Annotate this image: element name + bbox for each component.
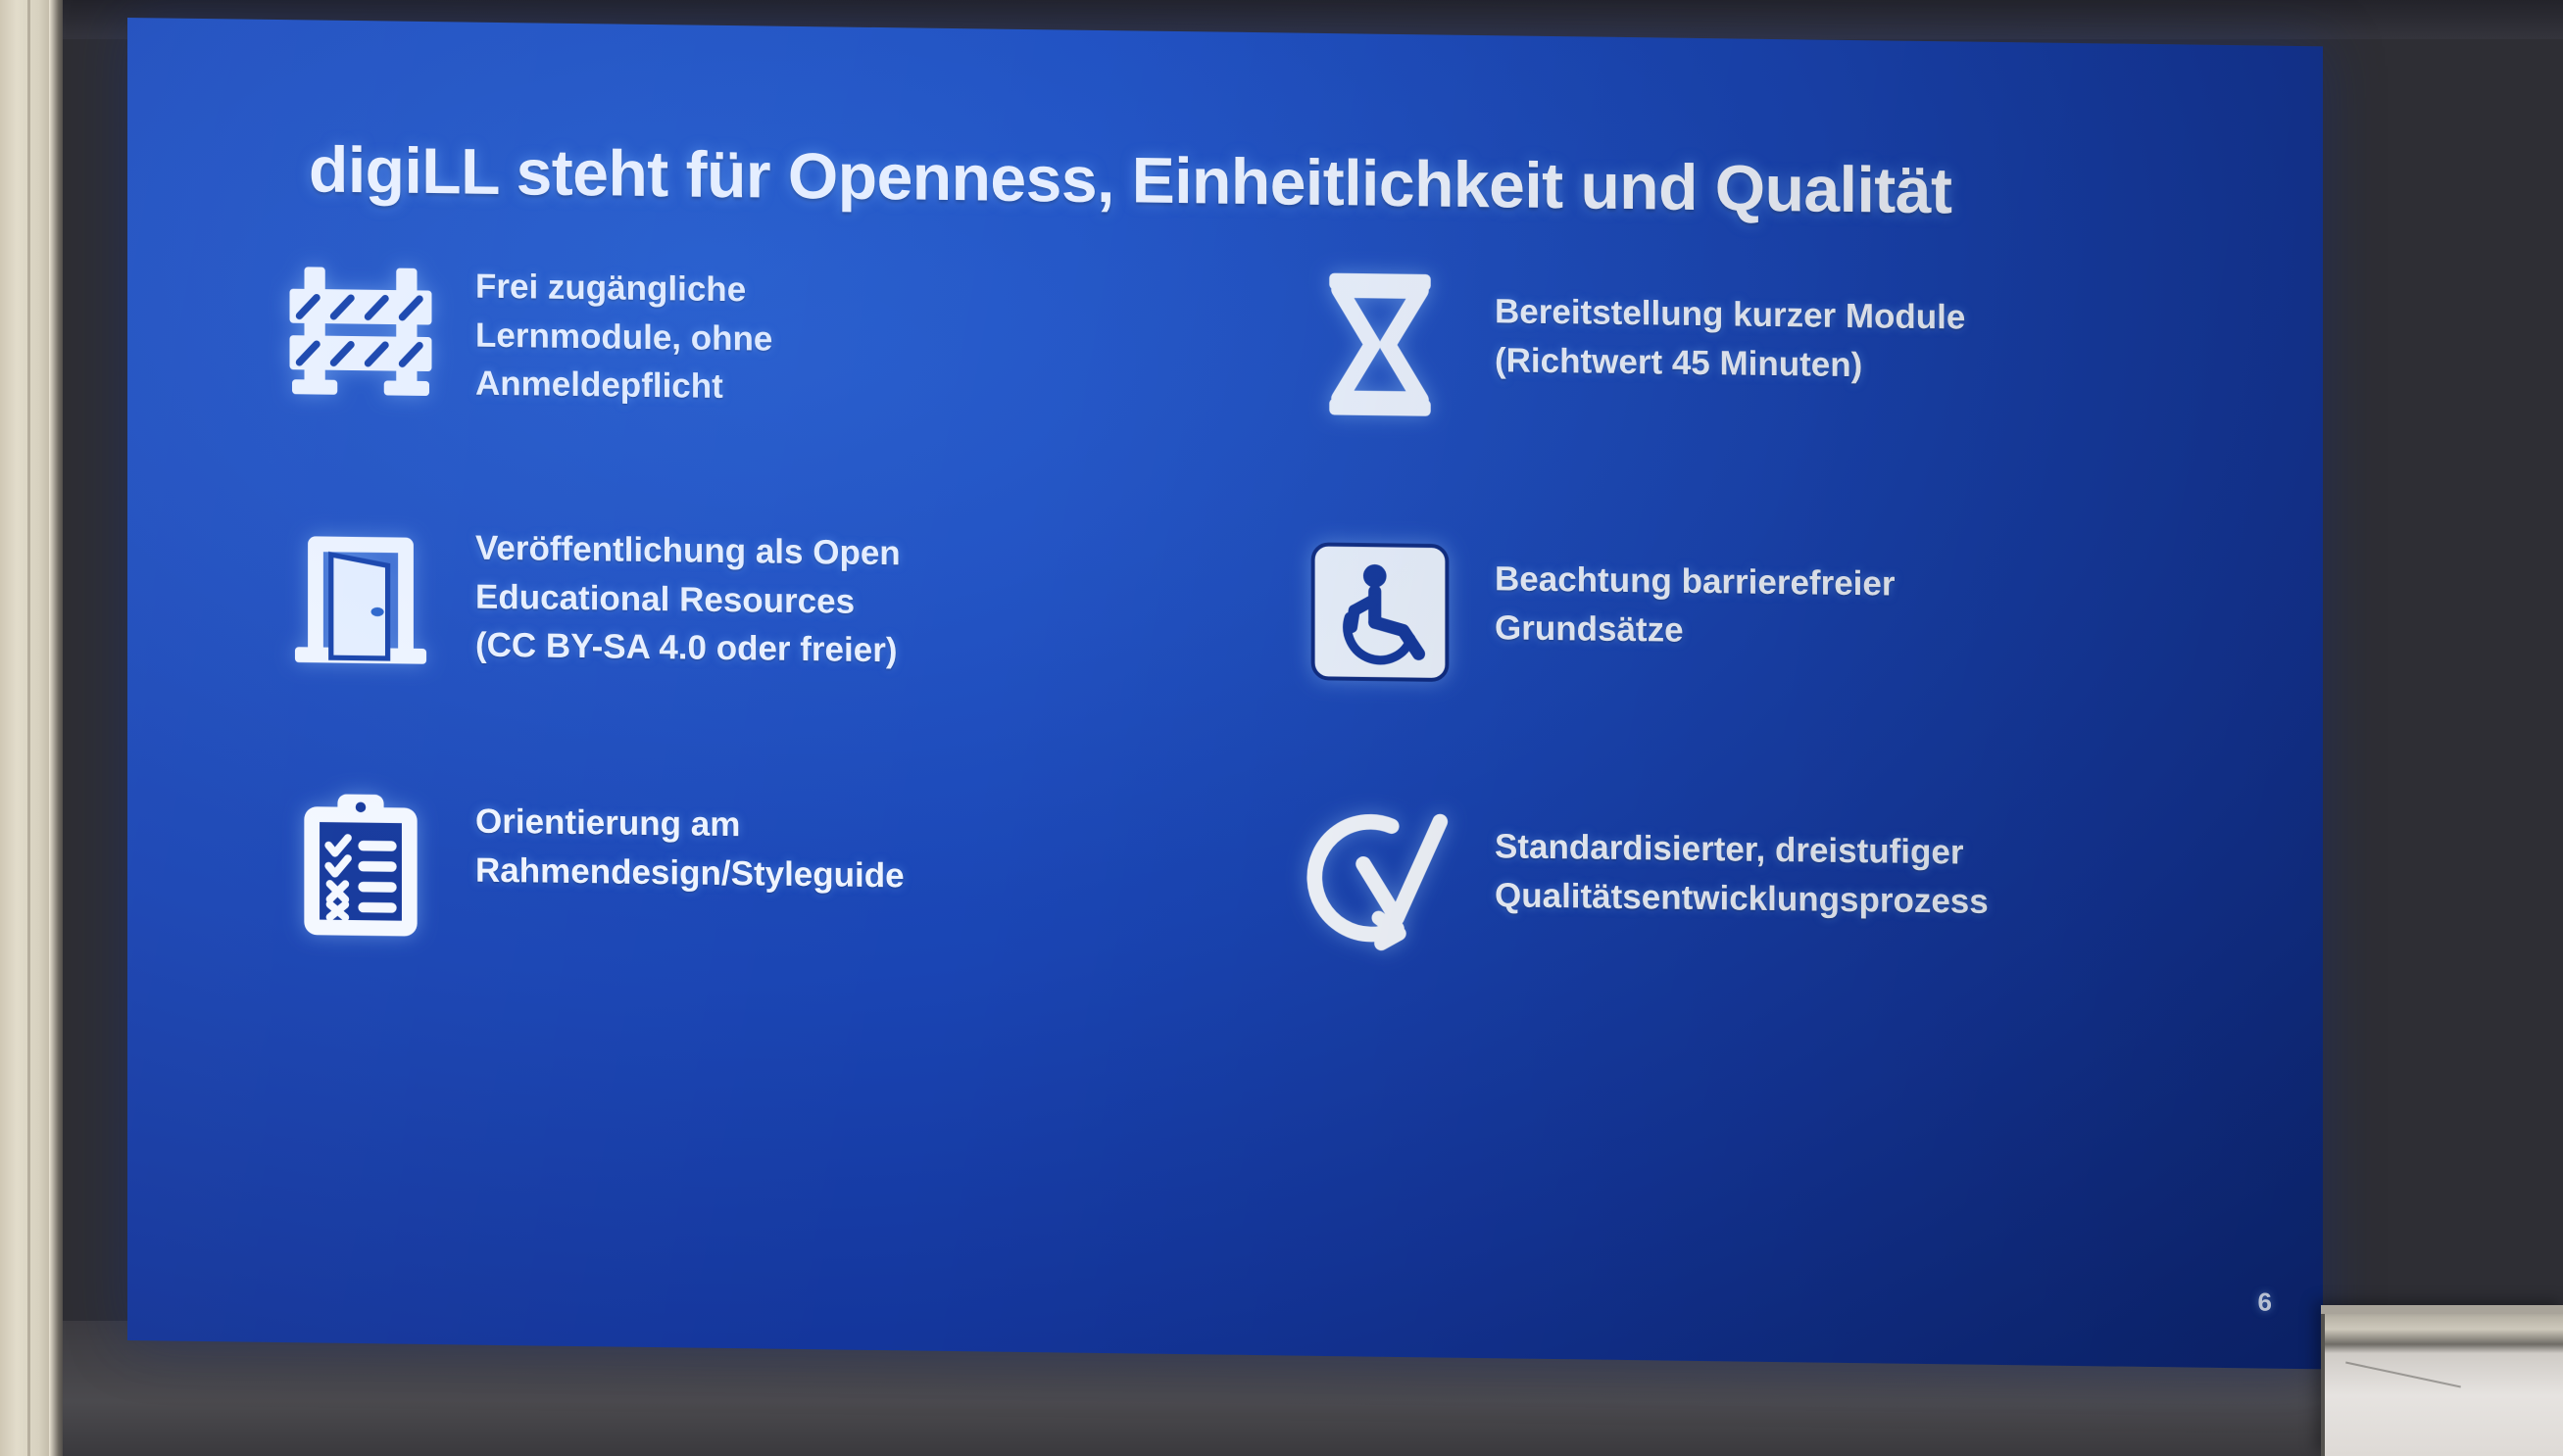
feature-item-text: Beachtung barrierefreier Grundsätze bbox=[1495, 533, 2254, 662]
slide-page-number: 6 bbox=[2258, 1286, 2272, 1317]
feature-item-text: Veröffentlichung als Open Educational Re… bbox=[475, 520, 1235, 680]
feature-item-frei-zugaengliche-lernmodule: Frei zugängliche Lernmodule, ohne Anmeld… bbox=[274, 250, 1235, 422]
quality-cycle-check-icon bbox=[1294, 799, 1465, 960]
flipchart-top-rail bbox=[2321, 1305, 2563, 1314]
feature-line: (Richtwert 45 Minuten) bbox=[1495, 336, 2254, 395]
feature-line: Grundsätze bbox=[1495, 604, 2254, 662]
feature-item-veroeffentlichung-oer: Veröffentlichung als Open Educational Re… bbox=[274, 517, 1235, 690]
wheelchair-accessibility-icon bbox=[1294, 531, 1465, 693]
feature-line: Rahmendesign/Styleguide bbox=[475, 846, 1235, 904]
open-door-icon bbox=[274, 517, 446, 679]
feature-item-text: Frei zugängliche Lernmodule, ohne Anmeld… bbox=[475, 253, 1235, 418]
flipchart-occluder bbox=[2321, 1305, 2563, 1456]
projection-photo: digiLL steht für Openness, Einheitlichke… bbox=[0, 0, 2563, 1456]
feature-line: (CC BY-SA 4.0 oder freier) bbox=[475, 621, 1235, 680]
feature-item-orientierung-rahmendesign: Orientierung am Rahmendesign/Styleguide bbox=[274, 785, 1235, 957]
hourglass-icon bbox=[1294, 264, 1465, 425]
feature-grid: Frei zugängliche Lernmodule, ohne Anmeld… bbox=[274, 250, 2254, 970]
feature-line: Qualitätsentwicklungsprozess bbox=[1495, 871, 2254, 930]
barrier-icon bbox=[274, 250, 446, 412]
feature-line: Anmeldepflicht bbox=[475, 360, 1235, 418]
feature-item-qualitaetsentwicklungsprozess: Standardisierter, dreistufiger Qualitäts… bbox=[1294, 799, 2254, 971]
slide-area: digiLL steht für Openness, Einheitlichke… bbox=[0, 0, 2563, 1456]
clipboard-checklist-icon bbox=[274, 785, 446, 946]
slide-title: digiLL steht für Openness, Einheitlichke… bbox=[309, 135, 2220, 228]
feature-item-text: Bereitstellung kurzer Module (Richtwert … bbox=[1495, 266, 2254, 395]
presentation-slide: digiLL steht für Openness, Einheitlichke… bbox=[127, 18, 2323, 1369]
feature-item-beachtung-barrierefreier-grundsaetze: Beachtung barrierefreier Grundsätze bbox=[1294, 531, 2254, 704]
feature-item-bereitstellung-kurzer-module: Bereitstellung kurzer Module (Richtwert … bbox=[1294, 264, 2254, 436]
feature-item-text: Standardisierter, dreistufiger Qualitäts… bbox=[1495, 801, 2254, 930]
feature-item-text: Orientierung am Rahmendesign/Styleguide bbox=[475, 788, 1235, 905]
